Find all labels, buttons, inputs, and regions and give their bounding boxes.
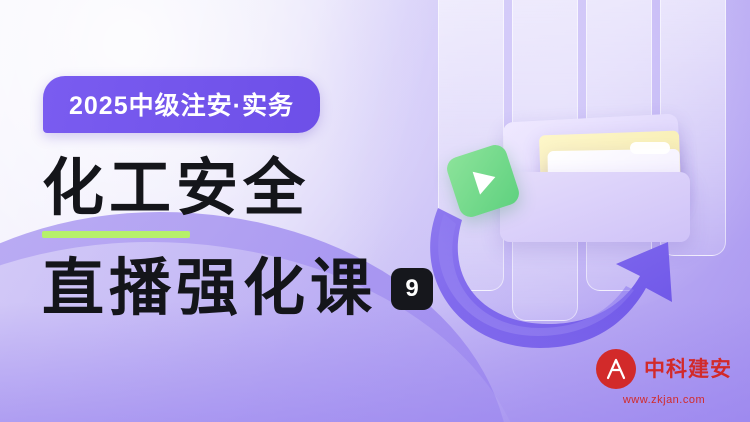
brand-glyph-icon: [603, 356, 629, 382]
headline-line-2: 直播强化课: [42, 258, 377, 320]
brand-mark-icon: [596, 349, 636, 389]
headline-line-1: 化工安全: [42, 158, 310, 220]
brand-name: 中科建安: [644, 359, 732, 380]
course-banner: 2025中级注安·实务 化工安全 直播强化课 9 中科建安 www.zkjan.…: [0, 0, 750, 422]
brand-logo: 中科建安 www.zkjan.com: [596, 349, 732, 406]
folder-tab-icon: [630, 142, 670, 154]
headline-underline: [42, 231, 190, 238]
course-badge: 2025中级注安·实务: [43, 76, 320, 133]
brand-url: www.zkjan.com: [623, 394, 705, 406]
episode-badge: 9: [391, 268, 433, 310]
brand-logo-row: 中科建安: [596, 349, 732, 389]
headline-line-2-wrap: 直播强化课 9: [42, 258, 433, 320]
